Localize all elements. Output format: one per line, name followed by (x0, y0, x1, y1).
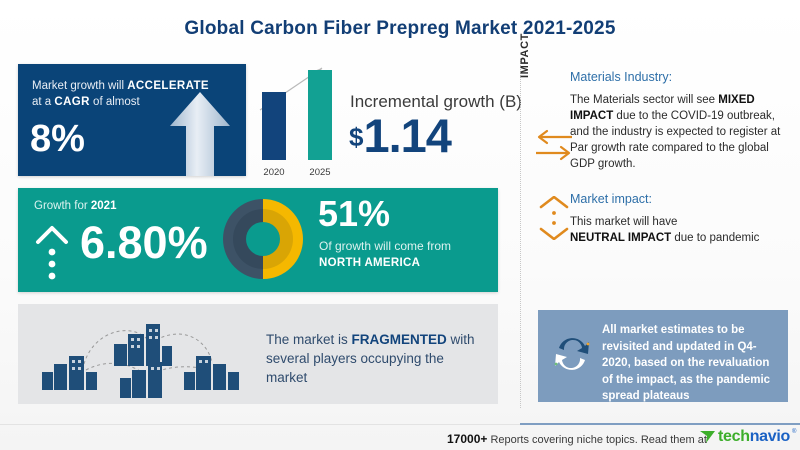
left-right-arrows-icon (534, 128, 574, 162)
growth-label-prefix: Growth for (34, 200, 91, 212)
materials-body: The Materials sector will see MIXED IMPA… (570, 92, 796, 172)
cagr-text-b: at a (32, 96, 54, 108)
currency-symbol: $ (349, 122, 363, 152)
revaluation-note-text: All market estimates to be revisited and… (602, 322, 778, 405)
cagr-card: Market growth will ACCELERATE at a CAGR … (18, 64, 246, 176)
column-divider (520, 58, 521, 408)
fragmentation-keyword: FRAGMENTED (352, 332, 447, 347)
cagr-abbrev: CAGR (54, 96, 89, 108)
up-arrow-icon (168, 92, 232, 176)
revaluation-note-card: All market estimates to be revisited and… (538, 310, 788, 402)
region-name: NORTH AMERICA (319, 257, 420, 269)
fragmentation-text-pre: The market is (266, 332, 352, 347)
market-impact-body: This market will have NEUTRAL IMPACT due… (570, 214, 790, 246)
growth-value: 6.80% (80, 220, 208, 265)
bar-2020 (262, 92, 286, 160)
technavio-logo[interactable]: technavio ® (700, 428, 796, 448)
region-share-donut (222, 198, 304, 280)
materials-heading: Materials Industry: (570, 70, 672, 84)
footer-rule-accent (520, 423, 800, 425)
cagr-value: 8% (30, 120, 85, 158)
market-body-1: This market will have (570, 216, 677, 228)
footer-text: 17000+ Reports covering niche topics. Re… (447, 432, 707, 446)
incremental-growth-barchart: 2020 2025 (256, 60, 346, 180)
market-impact-heading: Market impact: (570, 192, 652, 206)
footer-caption: Reports covering niche topics. Read them… (487, 434, 707, 446)
cagr-text-c: of almost (90, 96, 140, 108)
brand-part-two: navio (750, 428, 790, 445)
page-title: Global Carbon Fiber Prepreg Market 2021-… (0, 18, 800, 40)
growth-year-label: Growth for 2021 (34, 200, 116, 212)
market-body-2: due to pandemic (671, 232, 759, 244)
reports-count: 17000+ (447, 432, 487, 446)
cagr-accelerate: ACCELERATE (127, 80, 209, 92)
brand-registered-mark: ® (792, 429, 796, 435)
materials-body-1: The Materials sector will see (570, 94, 718, 106)
fragmentation-text: The market is FRAGMENTED with several pl… (266, 330, 486, 387)
bar-2025 (308, 70, 332, 160)
incremental-number: 1.14 (363, 109, 450, 162)
bar-label-2025: 2025 (300, 167, 340, 178)
region-share-subtext: Of growth will come from (319, 239, 451, 253)
up-chevron-dots-icon (32, 224, 72, 282)
infographic-root: Global Carbon Fiber Prepreg Market 2021-… (0, 0, 800, 450)
impact-vertical-label: IMPACT (519, 33, 531, 78)
technavio-arrow-icon (700, 430, 716, 444)
bar-label-2020: 2020 (254, 167, 294, 178)
growth-year: 2021 (91, 200, 117, 212)
region-share-caption: Of growth will come from NORTH AMERICA (319, 238, 494, 271)
region-share-percent: 51% (318, 196, 390, 232)
incremental-growth-value: $1.14 (349, 112, 451, 159)
refresh-cycle-icon (550, 332, 594, 376)
up-down-chevron-icon (538, 196, 570, 240)
brand-part-one: tech (718, 428, 750, 445)
cagr-text-a: Market growth will (32, 80, 127, 92)
buildings-network-icon (36, 312, 256, 398)
technavio-wordmark: technavio (718, 428, 790, 446)
fragmentation-card: The market is FRAGMENTED with several pl… (18, 304, 498, 404)
market-impact-keyword: NEUTRAL IMPACT (570, 232, 671, 244)
